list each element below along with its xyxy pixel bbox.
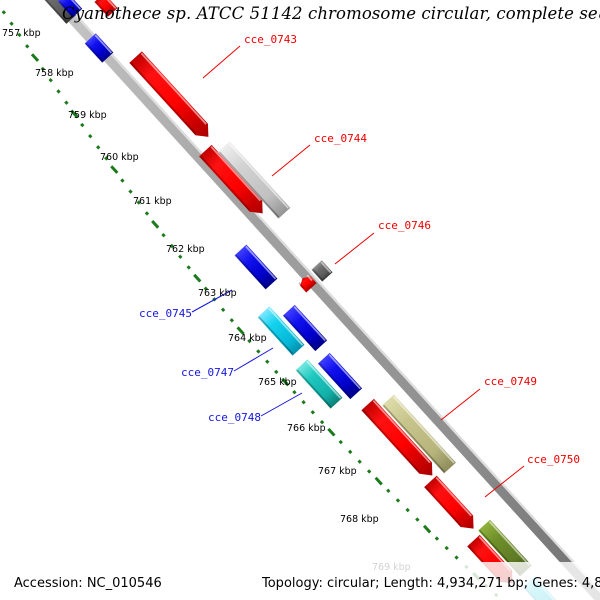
ruler-tick-label: 768 kbp bbox=[340, 514, 379, 525]
ruler-tick-mark bbox=[275, 371, 277, 373]
ruler-tick-mark bbox=[303, 401, 305, 403]
ruler-tick-mark bbox=[231, 319, 233, 321]
ruler-tick-label: 760 kbp bbox=[100, 152, 139, 163]
genome-viewer-canvas[interactable]: 757 kbp758 kbp759 kbp760 kbp761 kbp762 k… bbox=[0, 0, 600, 600]
label-leader-line bbox=[203, 46, 240, 78]
page-title: Cyanothece sp. ATCC 51142 chromosome cir… bbox=[62, 4, 600, 23]
label-leader-lines bbox=[192, 46, 524, 497]
ruler-tick-mark bbox=[57, 90, 59, 92]
ruler-tick-mark bbox=[368, 470, 370, 472]
ruler-tick-mark bbox=[376, 478, 382, 485]
gene-label-cce_0750[interactable]: cce_0750 bbox=[527, 453, 580, 466]
gene-label-cce_0746[interactable]: cce_0746 bbox=[378, 219, 431, 232]
ruler-tick-label: 761 kbp bbox=[133, 196, 172, 207]
ruler-tick-mark bbox=[111, 166, 117, 173]
ruler-tick-mark bbox=[32, 54, 38, 61]
ruler-tick-mark bbox=[129, 190, 131, 192]
ruler-tick-mark bbox=[397, 499, 399, 501]
gene-label-cce_0745[interactable]: cce_0745 bbox=[139, 307, 192, 320]
label-leader-line bbox=[441, 389, 480, 420]
ruler-tick-label: 758 kbp bbox=[35, 68, 74, 79]
ruler-tick-mark bbox=[146, 212, 148, 214]
accession-label: Accession: NC_010546 bbox=[14, 576, 162, 591]
ruler-tick-label: 762 kbp bbox=[166, 244, 205, 255]
ruler-tick-mark bbox=[26, 45, 28, 47]
ruler-tick-mark bbox=[121, 179, 123, 181]
ruler-tick-label: 765 kbp bbox=[258, 377, 297, 388]
ruler-tick-mark bbox=[188, 266, 190, 268]
ruler-tick-mark bbox=[349, 451, 351, 453]
chromosome-backbone[interactable] bbox=[42, 0, 600, 600]
ruler-tick-mark bbox=[266, 360, 268, 362]
ruler-tick-mark bbox=[424, 526, 430, 533]
ruler-tick-mark bbox=[97, 146, 99, 148]
ruler-tick-mark bbox=[312, 411, 314, 413]
gene-label-cce_0744[interactable]: cce_0744 bbox=[314, 132, 367, 145]
gene-label-cce_0748[interactable]: cce_0748 bbox=[208, 411, 261, 424]
ruler-tick-label: 766 kbp bbox=[287, 423, 326, 434]
ruler-tick-mark bbox=[50, 79, 52, 81]
ruler-tick-mark bbox=[328, 429, 334, 436]
ruler-tick-label: 764 kbp bbox=[228, 333, 267, 344]
gene-label-cce_0743[interactable]: cce_0743 bbox=[244, 33, 297, 46]
ruler-tick-label: 763 kbp bbox=[198, 288, 237, 299]
gene-label-cce_0749[interactable]: cce_0749 bbox=[484, 375, 537, 388]
genome-graphics-layer bbox=[0, 0, 600, 600]
ruler-tick-mark bbox=[340, 441, 342, 443]
gene-feature[interactable] bbox=[424, 476, 480, 535]
ruler-tick-mark bbox=[407, 509, 409, 511]
ruler-tick-mark bbox=[89, 135, 91, 137]
ruler-tick-mark bbox=[387, 490, 389, 492]
ruler-tick-mark bbox=[416, 518, 418, 520]
gene-label-cce_0747[interactable]: cce_0747 bbox=[181, 366, 234, 379]
gene-feature-group[interactable] bbox=[38, 0, 557, 600]
ruler-tick-mark bbox=[81, 124, 83, 126]
ruler-tick-label: 757 kbp bbox=[2, 28, 41, 39]
ruler-tick-mark bbox=[152, 221, 158, 228]
label-leader-line bbox=[234, 348, 273, 371]
ruler-tick-label: 759 kbp bbox=[68, 110, 107, 121]
gene-feature-body[interactable] bbox=[235, 245, 278, 290]
ruler-tick-mark bbox=[194, 275, 200, 282]
ruler-tick-label: 767 kbp bbox=[318, 466, 357, 477]
ruler-tick-mark bbox=[162, 234, 164, 236]
ruler-tick-mark bbox=[11, 22, 13, 24]
ruler-tick-mark bbox=[65, 101, 67, 103]
genome-summary-label: Topology: circular; Length: 4,934,271 bp… bbox=[262, 576, 600, 591]
gene-feature[interactable] bbox=[235, 245, 278, 290]
label-leader-line bbox=[335, 233, 374, 264]
label-leader-line bbox=[261, 393, 302, 416]
ruler-tick-mark bbox=[257, 350, 259, 352]
ruler-tick-mark bbox=[179, 256, 181, 258]
ruler-tick-arc bbox=[0, 0, 557, 600]
ruler-tick-mark bbox=[3, 11, 5, 13]
ruler-tick-mark bbox=[436, 537, 438, 539]
label-leader-line bbox=[272, 145, 310, 176]
ruler-tick-mark bbox=[222, 309, 224, 311]
ruler-tick-mark bbox=[293, 391, 295, 393]
gene-feature-highlight bbox=[141, 53, 206, 124]
ruler-tick-mark bbox=[359, 460, 361, 462]
ruler-tick-mark bbox=[455, 556, 457, 558]
ruler-tick-mark bbox=[446, 547, 448, 549]
gene-feature-body[interactable] bbox=[424, 476, 480, 535]
